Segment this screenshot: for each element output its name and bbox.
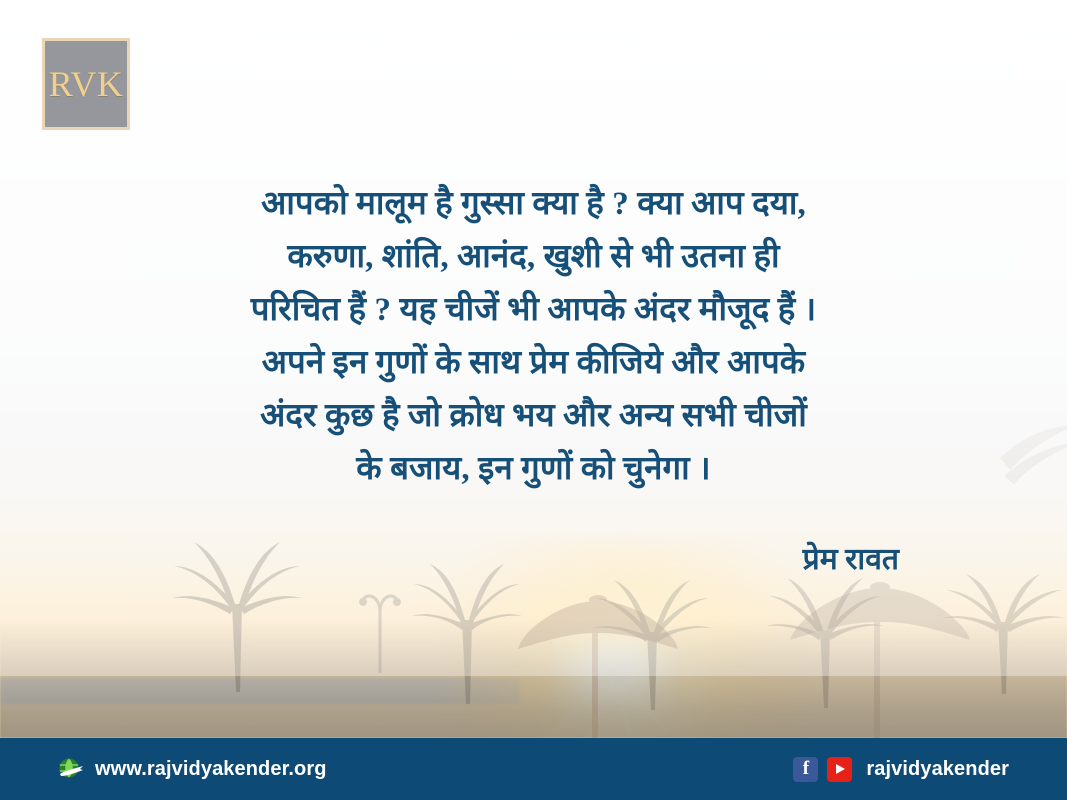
quote-line: अंदर कुछ है जो क्रोध भय और अन्य सभी चीजो… — [90, 390, 977, 443]
quote-line: करुणा, शांति, आनंद, खुशी से भी उतना ही — [90, 231, 977, 284]
palm-frond-icon — [1000, 418, 1067, 488]
social-handle[interactable]: rajvidyakender — [866, 758, 1009, 781]
quote-block: आपको मालूम है गुस्सा क्या है ? क्या आप द… — [90, 178, 977, 496]
quote-line: परिचित हैं ? यह चीजें भी आपके अंदर मौजूद… — [90, 284, 977, 337]
quote-author: प्रेम रावत — [803, 540, 899, 580]
footer-bar: www.rajvidyakender.org f rajvidyakender — [0, 738, 1067, 800]
social-group: f rajvidyakender — [793, 757, 1009, 782]
palm-tree-icon — [172, 542, 302, 692]
quote-line: अपने इन गुणों के साथ प्रेम कीजिये और आपक… — [90, 337, 977, 390]
quote-line: आपको मालूम है गुस्सा क्या है ? क्या आप द… — [90, 178, 977, 231]
youtube-icon[interactable] — [827, 757, 852, 782]
palm-tree-icon — [412, 564, 522, 704]
website-group[interactable]: www.rajvidyakender.org — [58, 757, 327, 781]
quote-line: के बजाय, इन गुणों को चुनेगा । — [90, 443, 977, 496]
facebook-icon[interactable]: f — [793, 757, 818, 782]
lamp-post-icon — [355, 578, 405, 678]
beach-umbrella-icon — [790, 578, 970, 738]
beach-umbrella-icon — [518, 593, 678, 738]
quote-card: RVK आपको मालूम है गुस्सा क्या है ? क्या … — [0, 0, 1067, 800]
rvk-logo: RVK — [42, 38, 130, 130]
globe-icon — [58, 757, 84, 781]
website-url[interactable]: www.rajvidyakender.org — [95, 758, 327, 781]
logo-text: RVK — [49, 66, 124, 102]
